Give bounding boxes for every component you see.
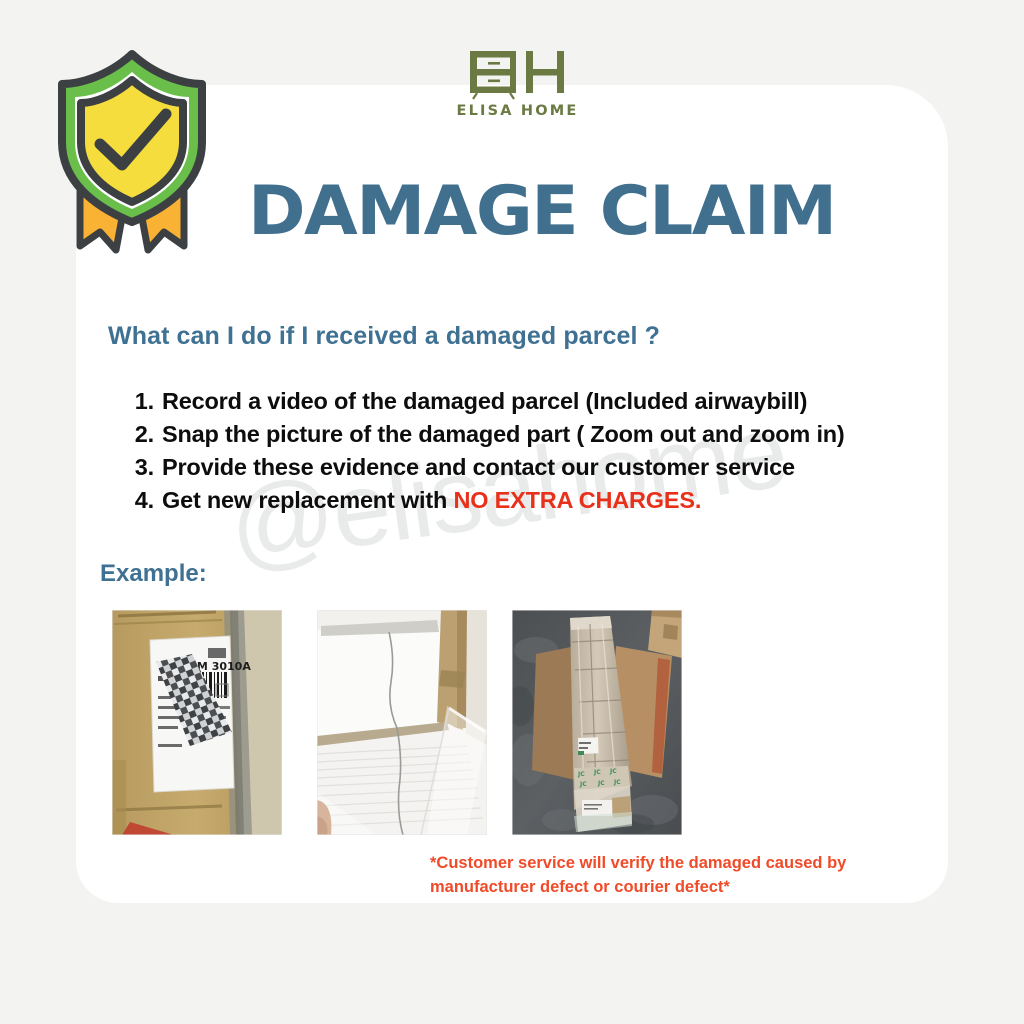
list-item-label: Record a video of the damaged parcel (In… (162, 388, 807, 415)
quality-shield-check-badge-icon (42, 46, 222, 261)
svg-text:JC: JC (609, 768, 617, 775)
list-item: 1. Record a video of the damaged parcel … (124, 388, 924, 421)
example-label: Example: (100, 560, 207, 588)
page-title: DAMAGE CLAIM (248, 178, 836, 246)
svg-text:JC: JC (597, 780, 605, 787)
list-item-label: Provide these evidence and contact our c… (162, 454, 795, 481)
list-item: 2. Snap the picture of the damaged part … (124, 421, 924, 454)
photo-damaged-box-with-label: UNIT PHG-PM 3010A (112, 610, 282, 835)
brand-name: ELISA HOME (455, 103, 580, 119)
list-item-number: 3. (124, 454, 162, 481)
svg-text:JC: JC (613, 779, 621, 786)
photo-wrapped-parcel-on-floor: JCJCJC JCJCJC (512, 610, 682, 835)
list-item: 3. Provide these evidence and contact ou… (124, 454, 924, 487)
list-item-number: 2. (124, 421, 162, 448)
question-heading: What can I do if I received a damaged pa… (108, 322, 660, 351)
steps-list: 1. Record a video of the damaged parcel … (124, 388, 924, 520)
list-item-number: 1. (124, 388, 162, 415)
list-item-number: 4. (124, 487, 162, 514)
photo-cracked-white-panel (317, 610, 487, 835)
brand-logo: ELISA HOME (455, 48, 580, 120)
cabinet-monogram-icon (466, 48, 570, 100)
list-item-label: Snap the picture of the damaged part ( Z… (162, 421, 845, 448)
svg-text:JC: JC (593, 769, 601, 776)
svg-text:JC: JC (579, 781, 587, 788)
footnote-text: *Customer service will verify the damage… (430, 852, 900, 900)
svg-text:JC: JC (577, 771, 585, 778)
list-item: 4. Get new replacement with NO EXTRA CHA… (124, 487, 924, 520)
list-item-label: Get new replacement with NO EXTRA CHARGE… (162, 487, 701, 514)
